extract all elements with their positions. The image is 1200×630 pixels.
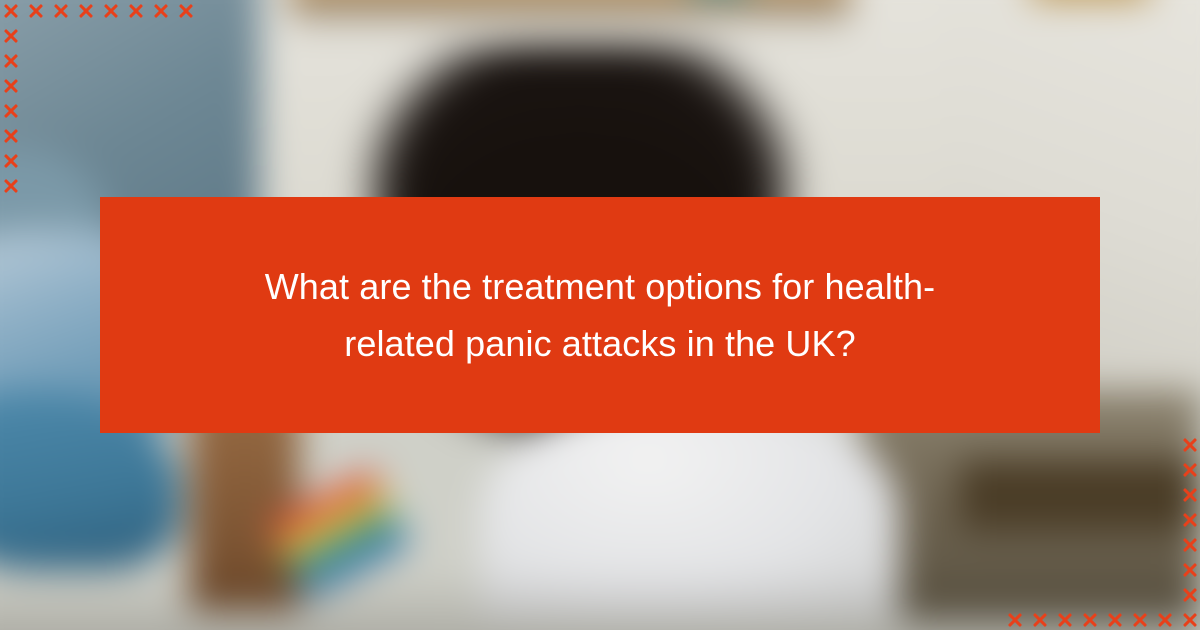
- x-grid-spacer: [1102, 557, 1127, 582]
- x-grid-spacer: [1127, 532, 1152, 557]
- x-mark-icon: [1127, 607, 1152, 630]
- x-grid-spacer: [48, 148, 73, 173]
- x-grid-spacer: [1102, 582, 1127, 607]
- x-mark-icon: [1002, 607, 1027, 630]
- x-mark-icon: [1177, 457, 1200, 482]
- x-grid-spacer: [173, 48, 198, 73]
- x-grid-spacer: [48, 48, 73, 73]
- x-mark-icon: [1177, 532, 1200, 557]
- x-grid-spacer: [73, 123, 98, 148]
- x-grid-spacer: [123, 123, 148, 148]
- x-grid-spacer: [23, 73, 48, 98]
- x-grid-spacer: [98, 48, 123, 73]
- x-mark-icon: [0, 173, 23, 198]
- x-grid-spacer: [1102, 507, 1127, 532]
- x-grid-spacer: [173, 173, 198, 198]
- x-mark-icon: [1177, 557, 1200, 582]
- x-grid-spacer: [1152, 582, 1177, 607]
- x-grid-spacer: [1102, 532, 1127, 557]
- x-grid-spacer: [1152, 457, 1177, 482]
- x-grid-spacer: [173, 73, 198, 98]
- x-grid-spacer: [173, 23, 198, 48]
- x-mark-icon: [1177, 507, 1200, 532]
- x-mark-icon: [123, 0, 148, 23]
- x-grid-spacer: [1052, 507, 1077, 532]
- x-grid-spacer: [1027, 432, 1052, 457]
- x-grid-spacer: [73, 73, 98, 98]
- x-grid-spacer: [1127, 482, 1152, 507]
- x-grid-spacer: [48, 98, 73, 123]
- x-grid-spacer: [1052, 582, 1077, 607]
- x-grid-spacer: [1052, 432, 1077, 457]
- x-mark-icon: [1177, 607, 1200, 630]
- x-grid-spacer: [1002, 432, 1027, 457]
- x-grid-spacer: [1002, 482, 1027, 507]
- x-grid-spacer: [1027, 557, 1052, 582]
- x-grid-spacer: [1002, 457, 1027, 482]
- x-grid-spacer: [48, 23, 73, 48]
- x-grid-spacer: [148, 73, 173, 98]
- x-mark-icon: [1152, 607, 1177, 630]
- x-grid-spacer: [1052, 532, 1077, 557]
- x-grid-spacer: [1102, 457, 1127, 482]
- x-grid-spacer: [23, 98, 48, 123]
- page-title: What are the treatment options for healt…: [230, 258, 970, 372]
- x-mark-icon: [73, 0, 98, 23]
- x-grid-spacer: [1002, 582, 1027, 607]
- x-grid-spacer: [1052, 457, 1077, 482]
- x-grid-spacer: [148, 98, 173, 123]
- x-grid-spacer: [148, 48, 173, 73]
- x-mark-icon: [0, 73, 23, 98]
- x-mark-icon: [0, 23, 23, 48]
- x-grid-spacer: [98, 123, 123, 148]
- x-grid-spacer: [1077, 532, 1102, 557]
- x-grid-spacer: [1077, 457, 1102, 482]
- x-grid-spacer: [1077, 582, 1102, 607]
- x-mark-icon: [0, 0, 23, 23]
- x-grid-spacer: [1052, 557, 1077, 582]
- x-grid-spacer: [48, 73, 73, 98]
- x-grid-spacer: [123, 148, 148, 173]
- x-mark-icon: [0, 98, 23, 123]
- x-grid-spacer: [148, 123, 173, 148]
- x-grid-spacer: [98, 173, 123, 198]
- x-grid-spacer: [1077, 507, 1102, 532]
- title-banner: What are the treatment options for healt…: [100, 197, 1100, 433]
- x-grid-spacer: [123, 173, 148, 198]
- x-grid-spacer: [1152, 557, 1177, 582]
- x-grid-spacer: [73, 98, 98, 123]
- x-mark-icon: [23, 0, 48, 23]
- x-grid-spacer: [173, 148, 198, 173]
- x-grid-spacer: [148, 173, 173, 198]
- x-mark-icon: [1077, 607, 1102, 630]
- social-share-card: What are the treatment options for healt…: [0, 0, 1200, 630]
- x-mark-icon: [98, 0, 123, 23]
- x-mark-icon: [1102, 607, 1127, 630]
- x-grid-spacer: [1002, 532, 1027, 557]
- x-grid-spacer: [23, 148, 48, 173]
- x-grid-spacer: [98, 73, 123, 98]
- decorative-x-grid-top-left: [0, 0, 198, 198]
- x-grid-spacer: [1127, 557, 1152, 582]
- x-mark-icon: [0, 48, 23, 73]
- x-grid-spacer: [1127, 432, 1152, 457]
- x-grid-spacer: [123, 73, 148, 98]
- x-mark-icon: [1052, 607, 1077, 630]
- x-grid-spacer: [173, 123, 198, 148]
- x-mark-icon: [1027, 607, 1052, 630]
- x-grid-spacer: [1027, 482, 1052, 507]
- x-grid-spacer: [1127, 582, 1152, 607]
- x-grid-spacer: [1002, 507, 1027, 532]
- x-grid-spacer: [1152, 482, 1177, 507]
- x-grid-spacer: [1127, 507, 1152, 532]
- x-mark-icon: [173, 0, 198, 23]
- x-grid-spacer: [98, 23, 123, 48]
- x-grid-spacer: [123, 48, 148, 73]
- x-grid-spacer: [23, 173, 48, 198]
- x-grid-spacer: [1077, 557, 1102, 582]
- x-grid-spacer: [48, 173, 73, 198]
- x-grid-spacer: [1102, 432, 1127, 457]
- x-grid-spacer: [1102, 482, 1127, 507]
- x-grid-spacer: [73, 23, 98, 48]
- x-grid-spacer: [1152, 507, 1177, 532]
- x-grid-spacer: [1152, 432, 1177, 457]
- decorative-x-grid-bottom-right: [1002, 432, 1200, 630]
- x-grid-spacer: [73, 173, 98, 198]
- x-mark-icon: [1177, 582, 1200, 607]
- x-mark-icon: [0, 123, 23, 148]
- x-grid-spacer: [1127, 457, 1152, 482]
- x-grid-spacer: [1027, 582, 1052, 607]
- background-shelf-shadow: [290, 0, 850, 22]
- x-grid-spacer: [173, 98, 198, 123]
- x-grid-spacer: [23, 23, 48, 48]
- x-mark-icon: [1177, 482, 1200, 507]
- x-grid-spacer: [1077, 482, 1102, 507]
- x-grid-spacer: [123, 98, 148, 123]
- x-grid-spacer: [1027, 532, 1052, 557]
- x-grid-spacer: [23, 123, 48, 148]
- x-mark-icon: [148, 0, 173, 23]
- x-grid-spacer: [123, 23, 148, 48]
- x-grid-spacer: [1027, 457, 1052, 482]
- x-grid-spacer: [1002, 557, 1027, 582]
- x-grid-spacer: [1077, 432, 1102, 457]
- x-grid-spacer: [98, 148, 123, 173]
- x-grid-spacer: [23, 48, 48, 73]
- x-grid-spacer: [1052, 482, 1077, 507]
- x-grid-spacer: [73, 48, 98, 73]
- x-grid-spacer: [148, 148, 173, 173]
- x-grid-spacer: [48, 123, 73, 148]
- x-grid-spacer: [73, 148, 98, 173]
- x-grid-spacer: [1152, 532, 1177, 557]
- x-mark-icon: [0, 148, 23, 173]
- x-grid-spacer: [148, 23, 173, 48]
- x-grid-spacer: [98, 98, 123, 123]
- x-grid-spacer: [1027, 507, 1052, 532]
- x-mark-icon: [48, 0, 73, 23]
- x-mark-icon: [1177, 432, 1200, 457]
